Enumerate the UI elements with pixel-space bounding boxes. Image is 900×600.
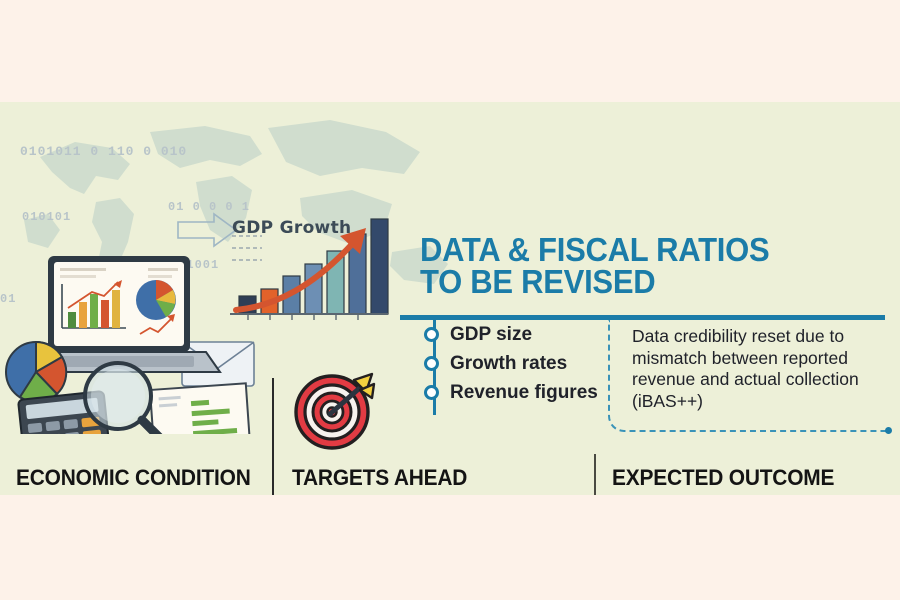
main-panel: 0101011 0 110 0 010 010101 01 0 0 0 1 01… [0,102,900,495]
list-item[interactable]: Revenue figures [424,378,604,407]
note-end-dot-icon [885,427,892,434]
revision-item-label: GDP size [450,324,532,346]
list-item[interactable]: Growth rates [424,349,604,378]
column-heading: ECONOMIC CONDITION [16,465,254,491]
gdp-growth-label: GDP Growth [232,218,351,238]
data-analytics-illustration [0,204,260,434]
column-expected-outcome: EXPECTED OUTCOME Better policy planning … [612,465,900,495]
credibility-note-box: Data credibility reset due to mismatch b… [608,320,888,432]
revision-items-list: GDP size Growth rates Revenue figures [424,320,604,407]
timeline-dot-icon [424,327,439,342]
credibility-note-text: Data credibility reset due to mismatch b… [632,326,892,413]
binary-decor-1: 0101011 0 110 0 010 [20,144,187,159]
target-bullseye-icon [288,364,380,456]
infographic-canvas: 0101011 0 110 0 010 010101 01 0 0 0 1 01… [0,0,900,600]
page-title: DATA & FISCAL RATIOS TO BE REVISED [420,234,862,297]
gdp-bar [371,219,388,314]
column-economic-condition: ECONOMIC CONDITION Weak fiscal base Exte… [16,465,266,495]
title-line-2: TO BE REVISED [420,266,862,298]
column-divider-2 [594,454,596,495]
column-divider-1 [272,378,274,495]
timeline-dot-icon [424,356,439,371]
revision-item-label: Growth rates [450,353,567,375]
revision-item-label: Revenue figures [450,382,598,404]
timeline-dot-icon [424,385,439,400]
column-targets-ahead: TARGETS AHEAD Short-term: Stronger Q4 re… [292,465,592,495]
list-item[interactable]: GDP size [424,320,604,349]
column-heading: EXPECTED OUTCOME [612,465,888,491]
title-line-1: DATA & FISCAL RATIOS [420,234,862,266]
column-heading: TARGETS AHEAD [292,465,577,491]
